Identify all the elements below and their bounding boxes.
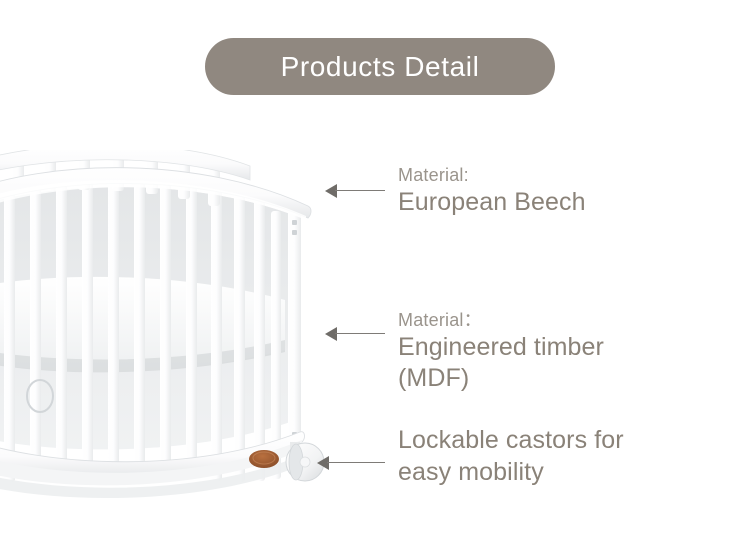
arrow-to-top-rail xyxy=(325,184,385,198)
annotation-lockable-castors: Lockable castors for easy mobility xyxy=(398,424,624,488)
page-title: Products Detail xyxy=(281,51,480,83)
page-title-pill: Products Detail xyxy=(205,38,555,95)
annotation-value: Lockable castors for easy mobility xyxy=(398,424,624,488)
product-image-oval-baby-crib xyxy=(0,150,340,520)
annotation-label: Material： xyxy=(398,308,604,332)
annotation-material-mdf: Material： Engineered timber (MDF) xyxy=(398,308,604,394)
arrow-to-castor xyxy=(317,456,385,470)
infographic-canvas: Products Detail xyxy=(0,0,750,546)
arrow-shaft xyxy=(335,333,385,334)
annotation-label: Material: xyxy=(398,163,586,187)
arrow-shaft xyxy=(327,462,385,463)
logo-badge xyxy=(249,450,279,468)
annotation-value: European Beech xyxy=(398,187,586,218)
annotation-material-beech: Material: European Beech xyxy=(398,163,586,218)
arrow-shaft xyxy=(335,190,385,191)
annotation-value: Engineered timber (MDF) xyxy=(398,332,604,394)
arrow-to-mattress-base xyxy=(325,327,385,341)
